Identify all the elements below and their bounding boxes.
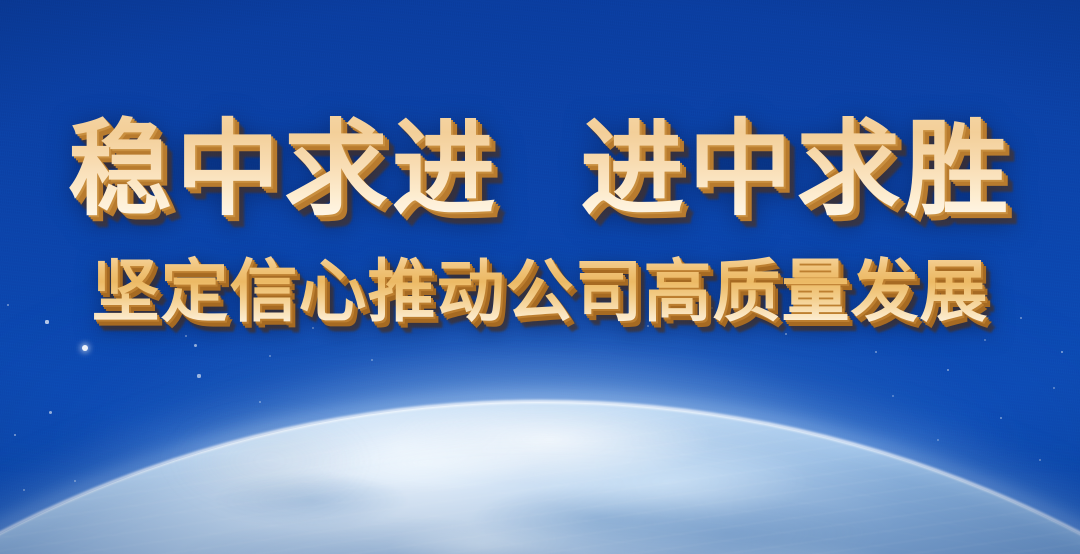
poster-copy: 稳中求进 进中求胜 坚定信心推动公司高质量发展 — [0, 0, 1080, 327]
poster-headline: 稳中求进 进中求胜 — [0, 0, 1080, 221]
poster-subheadline: 坚定信心推动公司高质量发展 — [0, 221, 1080, 327]
poster-banner: 稳中求进 进中求胜 坚定信心推动公司高质量发展 — [0, 0, 1080, 554]
